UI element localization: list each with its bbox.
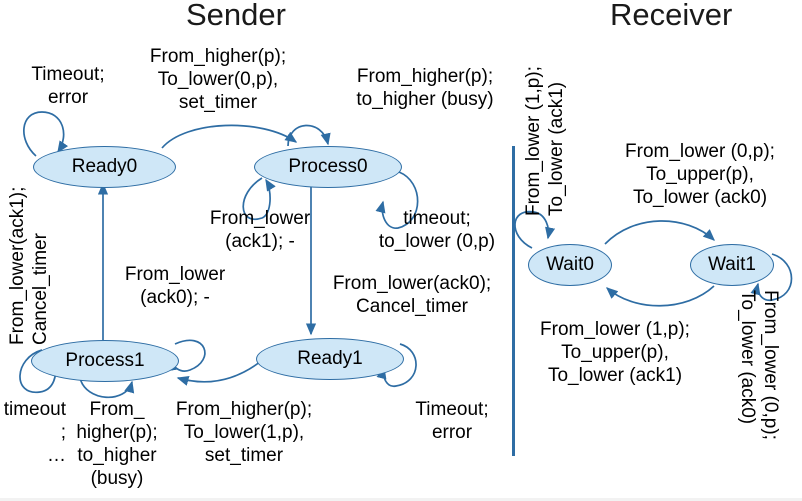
edge-label-process1-self-right-vertical: From_lower(ack1); Cancel_timer bbox=[6, 155, 52, 345]
sender-title: Sender bbox=[186, 0, 286, 32]
edge-label-ready0-self: Timeout; error bbox=[8, 63, 128, 109]
edge-label-wait1-self-vertical: From_lower (0,p); To_lower (ack0) bbox=[736, 290, 782, 476]
state-ready0-label: Ready0 bbox=[72, 156, 138, 178]
state-wait1-label: Wait1 bbox=[708, 254, 756, 276]
state-ready1[interactable]: Ready1 bbox=[256, 338, 404, 380]
edge-label-ready1-self: Timeout; error bbox=[398, 398, 506, 444]
state-diagram-canvas: Sender Receiver Ready0 Process0 Process1… bbox=[0, 0, 802, 501]
state-process1[interactable]: Process1 bbox=[31, 340, 179, 382]
edge-label-process1-self-left: timeout ; … bbox=[0, 398, 66, 467]
edge-label-process0-to-ready1: From_lower(ack0); Cancel_timer bbox=[322, 272, 502, 318]
state-ready1-label: Ready1 bbox=[297, 348, 363, 370]
state-ready0[interactable]: Ready0 bbox=[33, 146, 176, 188]
receiver-title: Receiver bbox=[610, 0, 732, 32]
edge-label-wait0-self-vertical: From_lower (1,p); To_lower (ack1) bbox=[522, 26, 568, 216]
state-wait0[interactable]: Wait0 bbox=[528, 244, 612, 286]
edge-label-ready1-to-process1: From_higher(p); To_lower(1,p), set_timer bbox=[152, 398, 336, 467]
edge-label-wait1-to-wait0: From_lower (1,p); To_upper(p), To_lower … bbox=[518, 318, 712, 387]
state-process1-label: Process1 bbox=[65, 350, 144, 372]
edge-label-ready0-to-process0: From_higher(p); To_lower(0,p), set_timer bbox=[128, 45, 308, 114]
edge-label-process0-self-left: From_lower (ack1); - bbox=[190, 207, 330, 253]
edge-label-process0-self-right: timeout; to_lower (0,p) bbox=[362, 207, 512, 253]
state-wait1[interactable]: Wait1 bbox=[690, 244, 774, 286]
state-process0-label: Process0 bbox=[288, 156, 367, 178]
sender-receiver-divider bbox=[512, 146, 515, 456]
edge-label-wait0-to-wait1: From_lower (0,p); To_upper(p), To_lower … bbox=[604, 140, 796, 209]
state-wait0-label: Wait0 bbox=[546, 254, 594, 276]
state-process0[interactable]: Process0 bbox=[254, 146, 402, 188]
edge-label-process0-self-top: From_higher(p); to_higher (busy) bbox=[330, 65, 520, 111]
edge-label-process1-to-ready0: From_lower (ack0); - bbox=[100, 263, 250, 309]
